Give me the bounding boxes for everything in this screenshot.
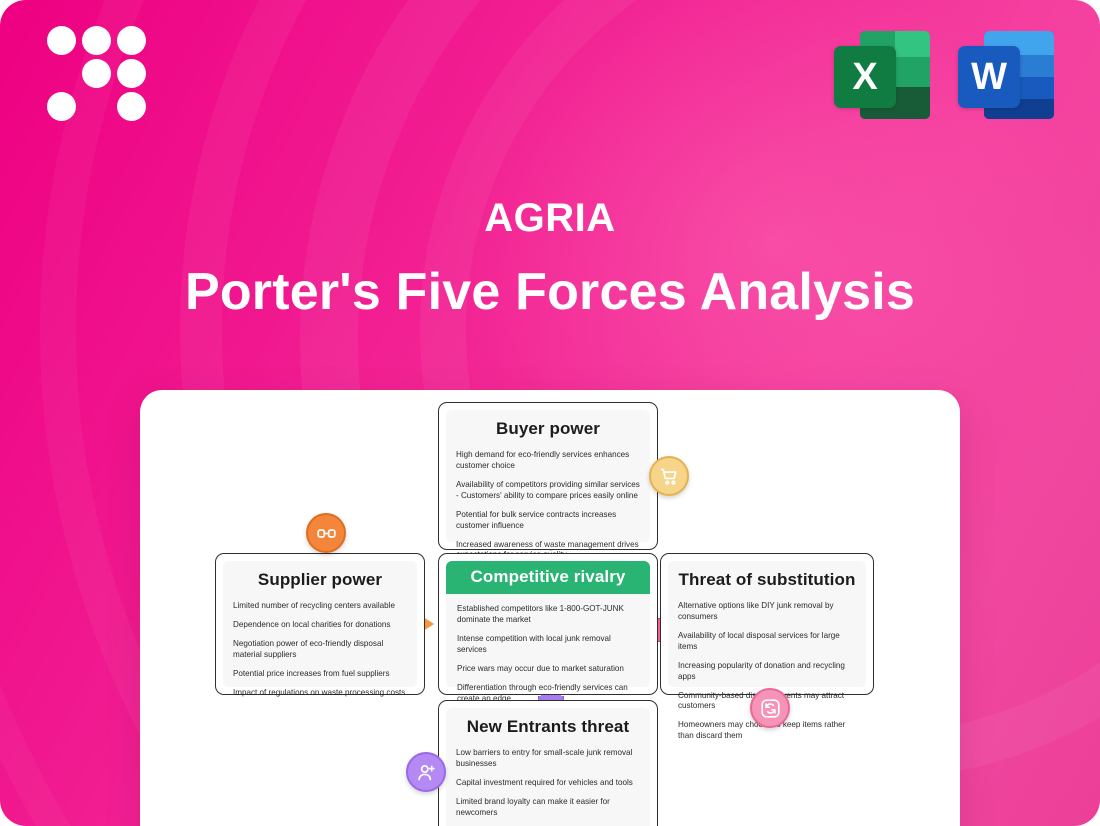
poster-page: X W AGRIA Porter's Five Forces Analysis	[0, 0, 1100, 826]
word-icon[interactable]: W	[958, 27, 1054, 121]
logo-dot	[117, 92, 146, 121]
page-title: Porter's Five Forces Analysis	[0, 264, 1100, 321]
brand-subtitle: AGRIA	[0, 196, 1100, 240]
list-item: Impact of regulations on waste processin…	[233, 688, 407, 699]
force-list-buyer-power: High demand for eco-friendly services en…	[456, 450, 640, 561]
list-item: Limited brand loyalty can make it easier…	[456, 797, 640, 819]
list-item: Established competitors like 1-800-GOT-J…	[457, 604, 639, 626]
page-heading: AGRIA Porter's Five Forces Analysis	[0, 196, 1100, 321]
list-item: Availability of local disposal services …	[678, 631, 856, 653]
shopping-cart-icon[interactable]	[649, 456, 689, 496]
list-item: Potential for bulk service contracts inc…	[456, 510, 640, 532]
list-item: Alternative options like DIY junk remova…	[678, 601, 856, 623]
office-app-icons: X W	[834, 27, 1054, 121]
force-list-supplier-power: Limited number of recycling centers avai…	[233, 601, 407, 699]
list-item: Negotiation power of eco-friendly dispos…	[233, 639, 407, 661]
list-item: Low barriers to entry for small-scale ju…	[456, 748, 640, 770]
agria-dot-logo	[47, 26, 147, 120]
link-chain-icon[interactable]	[306, 513, 346, 553]
excel-icon[interactable]: X	[834, 27, 930, 121]
list-item: Capital investment required for vehicles…	[456, 778, 640, 789]
logo-dot	[47, 92, 76, 121]
list-item: High demand for eco-friendly services en…	[456, 450, 640, 472]
logo-dot	[47, 26, 76, 55]
force-box-competitive-rivalry[interactable]: Competitive rivalry Established competit…	[438, 553, 658, 695]
force-list-new-entrants-threat: Low barriers to entry for small-scale ju…	[456, 748, 640, 826]
list-item: Dependence on local charities for donati…	[233, 620, 407, 631]
force-box-supplier-power[interactable]: Supplier power Limited number of recycli…	[215, 553, 425, 695]
force-box-buyer-power[interactable]: Buyer power High demand for eco-friendly…	[438, 402, 658, 550]
force-title-competitive-rivalry: Competitive rivalry	[446, 561, 650, 594]
force-box-threat-of-substitution[interactable]: Threat of substitution Alternative optio…	[660, 553, 874, 695]
force-box-new-entrants-threat[interactable]: New Entrants threat Low barriers to entr…	[438, 700, 658, 826]
diagram-card: Buyer power High demand for eco-friendly…	[140, 390, 960, 826]
add-user-icon[interactable]	[406, 752, 446, 792]
logo-dot	[117, 26, 146, 55]
list-item: Potential price increases from fuel supp…	[233, 669, 407, 680]
force-title-supplier-power: Supplier power	[233, 570, 407, 590]
force-title-buyer-power: Buyer power	[456, 419, 640, 439]
list-item: Increasing popularity of donation and re…	[678, 661, 856, 683]
logo-dot	[82, 26, 111, 55]
porters-five-forces-diagram: Buyer power High demand for eco-friendly…	[140, 390, 960, 826]
list-item: Price wars may occur due to market satur…	[457, 664, 639, 675]
force-title-new-entrants-threat: New Entrants threat	[456, 717, 640, 737]
logo-dot	[82, 59, 111, 88]
list-item: Intense competition with local junk remo…	[457, 634, 639, 656]
word-letter: W	[958, 46, 1020, 108]
refresh-sync-icon[interactable]	[750, 688, 790, 728]
list-item: Limited number of recycling centers avai…	[233, 601, 407, 612]
list-item: Availability of competitors providing si…	[456, 480, 640, 502]
logo-dot	[117, 59, 146, 88]
excel-letter: X	[834, 46, 896, 108]
force-title-threat-of-substitution: Threat of substitution	[678, 570, 856, 590]
